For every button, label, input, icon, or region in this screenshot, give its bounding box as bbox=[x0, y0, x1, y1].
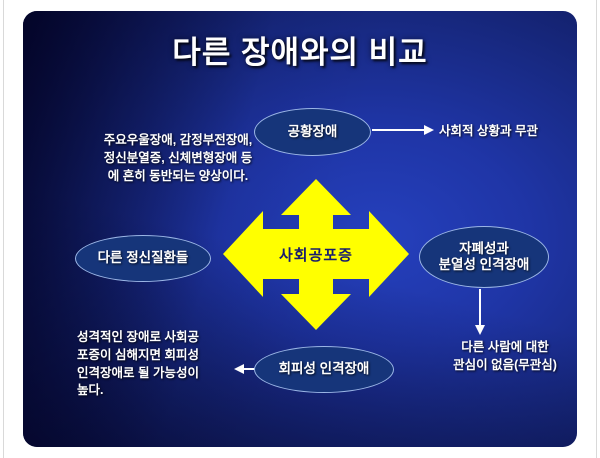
connector-shaft bbox=[372, 129, 426, 131]
node-panic-disorder[interactable]: 공황장애 bbox=[254, 108, 371, 156]
connector-autistic-to-note bbox=[475, 289, 485, 335]
arrowhead-right-icon bbox=[424, 125, 434, 135]
connector-panic-to-note bbox=[372, 125, 434, 135]
slide-content: 다른 장애와의 비교 주요우울장애, 감정부전장애, 정신분열증, 신체변형장애… bbox=[23, 11, 577, 447]
node-other-mental-illnesses[interactable]: 다른 정신질환들 bbox=[75, 235, 211, 282]
arrowhead-left-icon bbox=[234, 364, 244, 374]
page-rule-left bbox=[3, 0, 4, 458]
node-autistic-schizoid-personality-disorder[interactable]: 자폐성과 분열성 인격장애 bbox=[419, 226, 549, 288]
note-avoidant-progression: 성격적인 장애로 사회공 포증이 심해지면 회피성 인격장애로 될 가능성이 높… bbox=[77, 329, 257, 400]
note-no-interest-in-others: 다른 사람에 대한 관심이 없음(무관심) bbox=[425, 339, 577, 375]
arrowhead-down-icon bbox=[475, 325, 485, 335]
slide-title: 다른 장애와의 비교 bbox=[23, 27, 577, 72]
slide-canvas: 다른 장애와의 비교 주요우울장애, 감정부전장애, 정신분열증, 신체변형장애… bbox=[23, 11, 577, 447]
page-rule-right bbox=[596, 0, 597, 458]
note-unrelated-to-social-situation: 사회적 상황과 무관 bbox=[439, 123, 577, 141]
four-way-arrow-icon: 사회공포증 bbox=[219, 177, 413, 332]
connector-shaft bbox=[479, 289, 481, 327]
slide-page: 다른 장애와의 비교 주요우울장애, 감정부전장애, 정신분열증, 신체변형장애… bbox=[0, 0, 600, 458]
node-avoidant-personality-disorder[interactable]: 회피성 인격장애 bbox=[254, 346, 394, 393]
